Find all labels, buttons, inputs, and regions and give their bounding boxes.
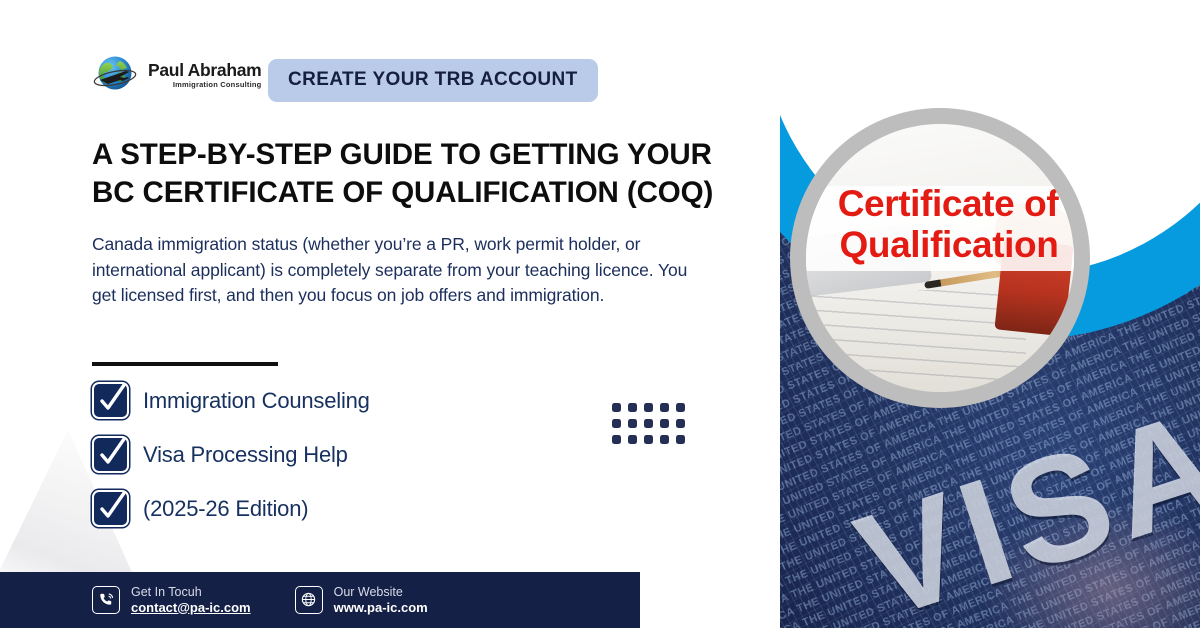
dot: [612, 435, 621, 444]
page-title-line1: A STEP-BY-STEP GUIDE TO GETTING YOUR: [92, 136, 752, 174]
footer-website-value[interactable]: www.pa-ic.com: [334, 600, 428, 615]
footer-contact-title: Get In Tocuh: [131, 585, 251, 600]
circular-photo-badge: Certificate of Qualification: [790, 108, 1090, 408]
brand-tagline: Immigration Consulting: [148, 80, 261, 89]
checklist-label: Visa Processing Help: [143, 442, 348, 468]
footer-contact[interactable]: Get In Tocuh contact@pa-ic.com: [92, 585, 251, 615]
dot: [660, 419, 669, 428]
dot: [628, 419, 637, 428]
divider-rule: [92, 362, 278, 366]
list-item: Visa Processing Help: [92, 436, 370, 473]
dot: [644, 435, 653, 444]
checkbox-checked-icon: [92, 382, 129, 419]
dot: [644, 403, 653, 412]
checkbox-checked-icon: [92, 490, 129, 527]
dot: [676, 435, 685, 444]
dot: [628, 403, 637, 412]
dot: [644, 419, 653, 428]
brand-text: Paul Abraham Immigration Consulting: [148, 61, 261, 88]
circle-photo-image: Certificate of Qualification: [806, 124, 1074, 392]
certificate-overlay-text: Certificate of Qualification: [806, 183, 1074, 266]
phone-icon: [92, 586, 120, 614]
globe-icon: [295, 586, 323, 614]
visa-word: VISA: [838, 373, 1200, 628]
brand-logo[interactable]: Paul Abraham Immigration Consulting: [92, 52, 261, 98]
dot: [612, 419, 621, 428]
feature-checklist: Immigration Counseling Visa Processing H…: [92, 382, 370, 544]
list-item: Immigration Counseling: [92, 382, 370, 419]
brand-name: Paul Abraham: [148, 61, 261, 79]
main-content: Paul Abraham Immigration Consulting CREA…: [0, 0, 780, 628]
checklist-label: (2025-26 Edition): [143, 496, 308, 522]
globe-airplane-icon: [92, 52, 138, 98]
dot: [628, 435, 637, 444]
create-trb-account-badge[interactable]: CREATE YOUR TRB ACCOUNT: [268, 59, 598, 102]
certificate-overlay-line2: Qualification: [824, 224, 1074, 265]
dot: [660, 435, 669, 444]
footer-bar: Get In Tocuh contact@pa-ic.com Our Websi…: [0, 572, 640, 628]
dot: [660, 403, 669, 412]
poster-canvas: THE UNITED STATES OF AMERICA THE UNITED …: [0, 0, 1200, 628]
footer-website[interactable]: Our Website www.pa-ic.com: [295, 585, 428, 615]
checklist-label: Immigration Counseling: [143, 388, 370, 414]
footer-contact-value[interactable]: contact@pa-ic.com: [131, 600, 251, 615]
list-item: (2025-26 Edition): [92, 490, 370, 527]
dot: [676, 419, 685, 428]
dot: [612, 403, 621, 412]
dot: [676, 403, 685, 412]
footer-website-title: Our Website: [334, 585, 428, 600]
checkbox-checked-icon: [92, 436, 129, 473]
page-title-line2: BC CERTIFICATE OF QUALIFICATION (COQ): [92, 174, 752, 212]
subcopy-paragraph: Canada immigration status (whether you’r…: [92, 232, 708, 309]
certificate-overlay-line1: Certificate of: [822, 183, 1074, 224]
photo-document-lines: [811, 290, 1025, 381]
dot-grid-decoration: [612, 403, 692, 451]
page-title: A STEP-BY-STEP GUIDE TO GETTING YOUR BC …: [92, 136, 752, 212]
visa-pink-glow: [980, 500, 1200, 628]
